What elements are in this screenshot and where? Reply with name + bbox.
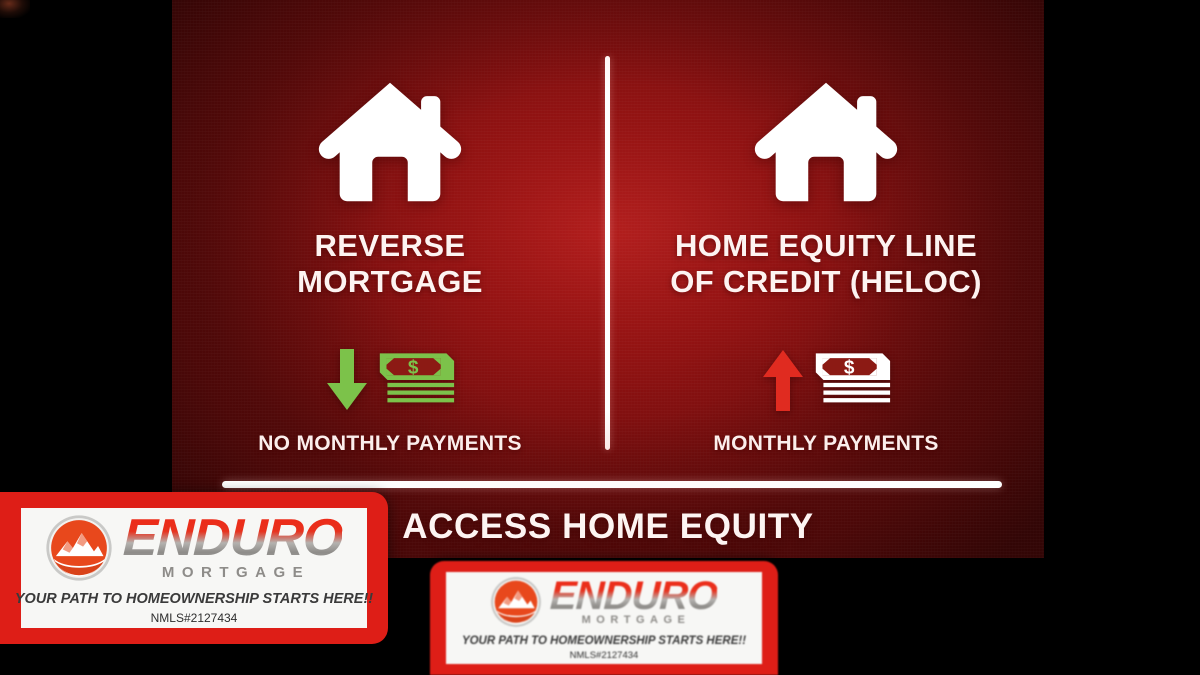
bottom-banner-text: ACCESS HOME EQUITY [402,507,813,547]
corner-artifact [0,0,30,18]
payment-icon-row-left: $ [324,344,456,416]
house-icon [316,72,464,212]
enduro-logo-panel-secondary: ENDURO MORTGAGE YOUR PATH TO HOMEOWNERSH… [446,572,762,664]
column-title-reverse-mortgage: REVERSE MORTGAGE [297,228,483,300]
enduro-nmls-number: NMLS#2127434 [151,611,238,625]
enduro-brand-text: ENDURO [122,515,343,563]
column-reverse-mortgage: REVERSE MORTGAGE [172,0,608,470]
enduro-brand-text: ENDURO [550,578,719,615]
column-heloc: HOME EQUITY LINE OF CREDIT (HELOC) [608,0,1044,470]
enduro-wordmark: ENDURO MORTGAGE [123,515,342,580]
slide-content: REVERSE MORTGAGE [172,0,1044,558]
screenshot-stage: REVERSE MORTGAGE [0,0,1200,675]
enduro-logo-row: ENDURO MORTGAGE [45,514,342,582]
vertical-divider [605,56,610,450]
payment-label-left: NO MONTHLY PAYMENTS [258,432,522,456]
enduro-logo-card-secondary[interactable]: ENDURO MORTGAGE YOUR PATH TO HOMEOWNERSH… [430,561,778,675]
enduro-logo-card[interactable]: ENDURO MORTGAGE YOUR PATH TO HOMEOWNERSH… [0,492,388,644]
house-icon [752,72,900,212]
column-title-line1: REVERSE [297,228,483,264]
enduro-tagline: YOUR PATH TO HOMEOWNERSHIP STARTS HERE!! [15,591,373,607]
mountain-badge-icon [45,514,113,582]
column-title-heloc: HOME EQUITY LINE OF CREDIT (HELOC) [670,228,982,300]
column-title-line1: HOME EQUITY LINE [670,228,982,264]
enduro-logo-panel: ENDURO MORTGAGE YOUR PATH TO HOMEOWNERSH… [21,508,367,628]
enduro-wordmark-secondary: ENDURO MORTGAGE [550,578,717,627]
horizontal-divider [222,481,1002,488]
arrow-up-icon [760,347,806,413]
svg-text:$: $ [408,357,419,378]
mountain-badge-icon [490,576,542,628]
column-title-line2: MORTGAGE [297,264,483,300]
arrow-down-icon [324,347,370,413]
enduro-nmls-number-secondary: NMLS#2127434 [570,650,639,661]
cash-stack-icon: $ [812,349,892,411]
column-title-line2: OF CREDIT (HELOC) [670,264,982,300]
enduro-logo-row-secondary: ENDURO MORTGAGE [490,576,717,628]
enduro-subbrand-text: MORTGAGE [123,565,342,580]
cash-stack-icon: $ [376,349,456,411]
enduro-tagline-secondary: YOUR PATH TO HOMEOWNERSHIP STARTS HERE!! [462,635,746,647]
video-frame[interactable]: REVERSE MORTGAGE [172,0,1044,558]
svg-text:$: $ [844,357,855,378]
payment-label-right: MONTHLY PAYMENTS [713,432,938,456]
payment-icon-row-right: $ [760,344,892,416]
